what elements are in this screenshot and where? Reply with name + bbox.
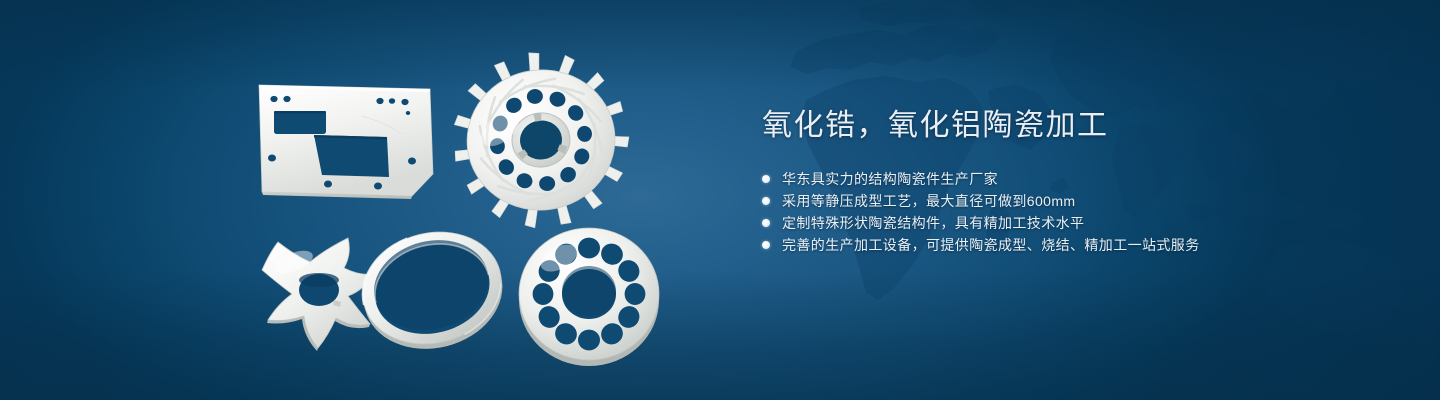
bullet-dot-icon: [762, 175, 770, 183]
feature-text: 华东具实力的结构陶瓷件生产厂家: [782, 168, 998, 190]
feature-text: 完善的生产加工设备，可提供陶瓷成型、烧结、精加工一站式服务: [782, 234, 1200, 256]
banner-headline: 氧化锆，氧化铝陶瓷加工: [762, 108, 1362, 144]
ceramic-products-hero-banner: 氧化锆，氧化铝陶瓷加工 华东具实力的结构陶瓷件生产厂家 采用等静压成型工艺，最大…: [0, 0, 1440, 400]
bullet-dot-icon: [762, 219, 770, 227]
banner-feature-list: 华东具实力的结构陶瓷件生产厂家 采用等静压成型工艺，最大直径可做到600mm 定…: [762, 168, 1362, 256]
bullet-dot-icon: [762, 197, 770, 205]
ceramic-impeller-disc-image: [446, 48, 636, 238]
feature-text: 定制特殊形状陶瓷结构件，具有精加工技术水平: [782, 212, 1084, 234]
list-item: 定制特殊形状陶瓷结构件，具有精加工技术水平: [762, 212, 1362, 234]
ceramic-perforated-disc-image: [512, 222, 667, 370]
ceramic-products-image-group: [0, 0, 720, 400]
list-item: 华东具实力的结构陶瓷件生产厂家: [762, 168, 1362, 190]
bullet-dot-icon: [762, 241, 770, 249]
banner-text-column: 氧化锆，氧化铝陶瓷加工 华东具实力的结构陶瓷件生产厂家 采用等静压成型工艺，最大…: [762, 108, 1362, 256]
feature-text: 采用等静压成型工艺，最大直径可做到600mm: [782, 190, 1075, 212]
ceramic-ring-image: [336, 222, 521, 357]
list-item: 采用等静压成型工艺，最大直径可做到600mm: [762, 190, 1362, 212]
ceramic-plate-with-cutouts-image: [252, 78, 442, 203]
list-item: 完善的生产加工设备，可提供陶瓷成型、烧结、精加工一站式服务: [762, 234, 1362, 256]
